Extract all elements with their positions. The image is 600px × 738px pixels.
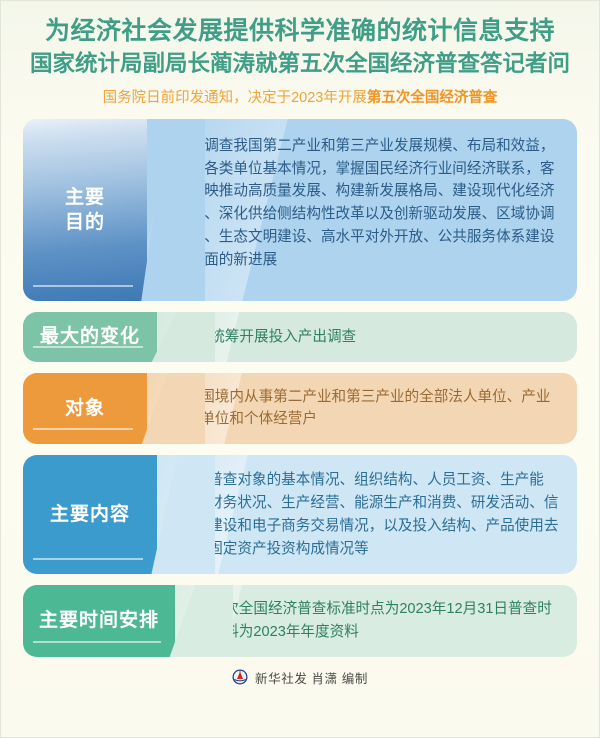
section-body-text: 全面调查我国第二产业和第三产业发展规模、布局和效益，摸清各类单位基本情况，掌握国… <box>147 119 577 301</box>
section-label: 主要时间安排 <box>39 608 159 633</box>
section-label-tab: 主要 目的 <box>23 119 147 301</box>
section-label-line1: 主要 <box>65 185 105 210</box>
tab-underline <box>33 428 133 430</box>
header: 为经济社会发展提供科学准确的统计信息支持 国家统计局副局长蔺涛就第五次全国经济普… <box>1 1 599 108</box>
section-body-text: 首次统筹开展投入产出调查 <box>157 312 577 362</box>
footer-credit-text: 新华社发 肖潇 编制 <box>255 668 368 687</box>
tab-underline <box>33 285 133 287</box>
section-label-tab: 主要时间安排 <box>23 585 175 657</box>
xinhua-logo-icon <box>232 669 248 685</box>
infographic-page: 为经济社会发展提供科学准确的统计信息支持 国家统计局副局长蔺涛就第五次全国经济普… <box>0 0 600 738</box>
section-schedule: 主要时间安排 第五次全国经济普查标准时点为2023年12月31日普查时期资料为2… <box>23 585 577 657</box>
page-title-line2: 国家统计局副局长蔺涛就第五次全国经济普查答记者问 <box>15 49 585 78</box>
subtitle: 国务院日前印发通知，决定于2023年开展第五次全国经济普查 <box>15 89 585 108</box>
tab-underline <box>33 346 143 348</box>
tab-underline <box>33 558 143 560</box>
section-biggest-change: 最大的变化 首次统筹开展投入产出调查 <box>23 312 577 362</box>
subtitle-emphasis: 第五次全国经济普查 <box>367 90 498 106</box>
tab-underline <box>33 641 161 643</box>
subtitle-prefix: 国务院日前印发通知，决定于2023年开展 <box>103 90 367 106</box>
section-label-line2: 目的 <box>65 210 105 235</box>
section-label-tab: 最大的变化 <box>23 312 157 362</box>
section-label: 对象 <box>65 396 105 421</box>
section-label-tab: 对象 <box>23 373 147 445</box>
sections-list: 主要 目的 全面调查我国第二产业和第三产业发展规模、布局和效益，摸清各类单位基本… <box>1 119 599 657</box>
page-title-line1: 为经济社会发展提供科学准确的统计信息支持 <box>15 17 585 48</box>
section-label-tab: 主要内容 <box>23 455 157 574</box>
section-body-text: 第五次全国经济普查标准时点为2023年12月31日普查时期资料为2023年年度资… <box>175 585 577 657</box>
footer-credit: 新华社发 肖潇 编制 <box>1 668 599 687</box>
section-body-text: 在我国境内从事第二产业和第三产业的全部法人单位、产业活动单位和个体经营户 <box>147 373 577 445</box>
section-object: 对象 在我国境内从事第二产业和第三产业的全部法人单位、产业活动单位和个体经营户 <box>23 373 577 445</box>
section-label: 主要内容 <box>50 502 130 527</box>
section-body-text: 包括普查对象的基本情况、组织结构、人员工资、生产能力、财务状况、生产经营、能源生… <box>157 455 577 574</box>
section-main-purpose: 主要 目的 全面调查我国第二产业和第三产业发展规模、布局和效益，摸清各类单位基本… <box>23 119 577 301</box>
section-main-content: 主要内容 包括普查对象的基本情况、组织结构、人员工资、生产能力、财务状况、生产经… <box>23 455 577 574</box>
